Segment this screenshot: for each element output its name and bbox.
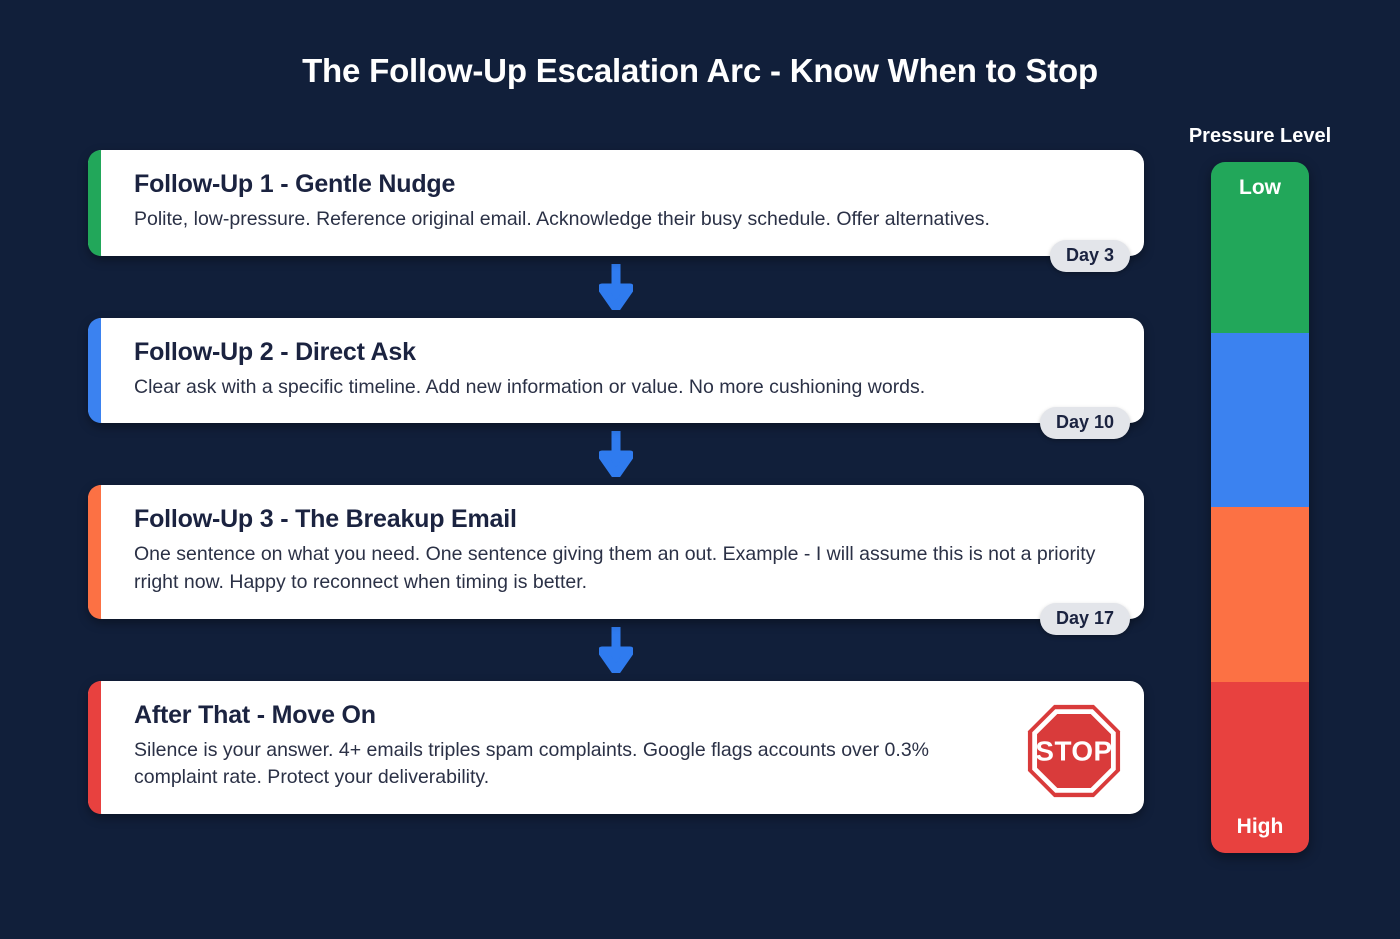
arrow-down-icon — [599, 264, 633, 310]
card-title-2: Follow-Up 2 - Direct Ask — [134, 338, 1118, 367]
card-accent-bar-1 — [88, 150, 101, 256]
card-accent-bar-3 — [88, 485, 101, 618]
arrow-down-icon — [599, 431, 633, 477]
arrow-down-icon — [599, 627, 633, 673]
card-body-3: One sentence on what you need. One sente… — [134, 541, 1118, 596]
arrow-connector-2 — [88, 423, 1144, 485]
card-title-1: Follow-Up 1 - Gentle Nudge — [134, 170, 1118, 199]
escalation-flow: Follow-Up 1 - Gentle Nudge Polite, low-p… — [88, 150, 1144, 814]
day-badge-2: Day 10 — [1040, 407, 1130, 439]
gauge-band-medium — [1211, 333, 1309, 508]
page-title: The Follow-Up Escalation Arc - Know When… — [0, 52, 1400, 90]
card-body-2: Clear ask with a specific timeline. Add … — [134, 374, 1118, 402]
step-card-3[interactable]: Follow-Up 3 - The Breakup Email One sent… — [88, 485, 1144, 618]
gauge-label-high: High — [1211, 815, 1309, 839]
step-card-1[interactable]: Follow-Up 1 - Gentle Nudge Polite, low-p… — [88, 150, 1144, 256]
pressure-gauge: Low High — [1211, 162, 1309, 853]
gauge-band-critical: High — [1211, 682, 1309, 853]
gauge-label-low: Low — [1211, 176, 1309, 200]
gauge-band-high — [1211, 507, 1309, 681]
step-card-4[interactable]: After That - Move On Silence is your ans… — [88, 681, 1144, 814]
pressure-gauge-heading: Pressure Level — [1164, 125, 1356, 148]
card-title-4: After That - Move On — [134, 701, 1118, 730]
day-badge-3: Day 17 — [1040, 603, 1130, 635]
day-badge-1: Day 3 — [1050, 240, 1130, 272]
card-accent-bar-2 — [88, 318, 101, 424]
gauge-band-low: Low — [1211, 162, 1309, 333]
card-body-1: Polite, low-pressure. Reference original… — [134, 206, 1118, 234]
stop-sign-label: STOP — [1035, 735, 1112, 766]
arrow-connector-1 — [88, 256, 1144, 318]
card-body-4: Silence is your answer. 4+ emails triple… — [134, 737, 1014, 792]
arrow-connector-3 — [88, 619, 1144, 681]
stop-sign-icon: STOP — [1026, 703, 1122, 799]
step-card-2[interactable]: Follow-Up 2 - Direct Ask Clear ask with … — [88, 318, 1144, 424]
card-accent-bar-4 — [88, 681, 101, 814]
pressure-gauge-panel: Pressure Level Low High — [1164, 125, 1356, 853]
card-title-3: Follow-Up 3 - The Breakup Email — [134, 505, 1118, 534]
